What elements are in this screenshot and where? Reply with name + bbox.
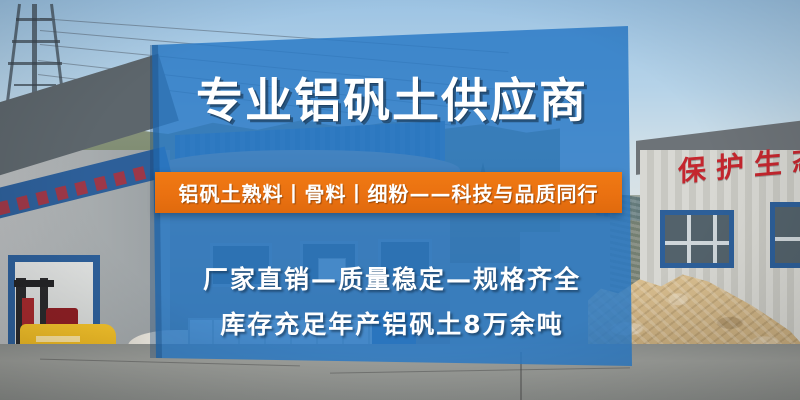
banner-subline-2: 库存充足年产铝矾土8万余吨 (0, 305, 792, 341)
ribbon-label: 铝矾土熟料丨骨料丨细粉——科技与品质同行 (179, 178, 599, 207)
orange-ribbon: 铝矾土熟料丨骨料丨细粉——科技与品质同行 (155, 172, 622, 213)
banner-headline: 专业铝矾土供应商 (0, 78, 792, 125)
promotional-banner: 保 护 生 态 专业铝矾土供应商 铝矾土熟料丨骨料丨细粉——科技与品质同行 厂家… (0, 0, 800, 400)
banner-content: 专业铝矾土供应商 铝矾土熟料丨骨料丨细粉——科技与品质同行 厂家直销—质量稳定—… (0, 0, 800, 400)
banner-subline-1: 厂家直销—质量稳定—规格齐全 (0, 260, 792, 296)
